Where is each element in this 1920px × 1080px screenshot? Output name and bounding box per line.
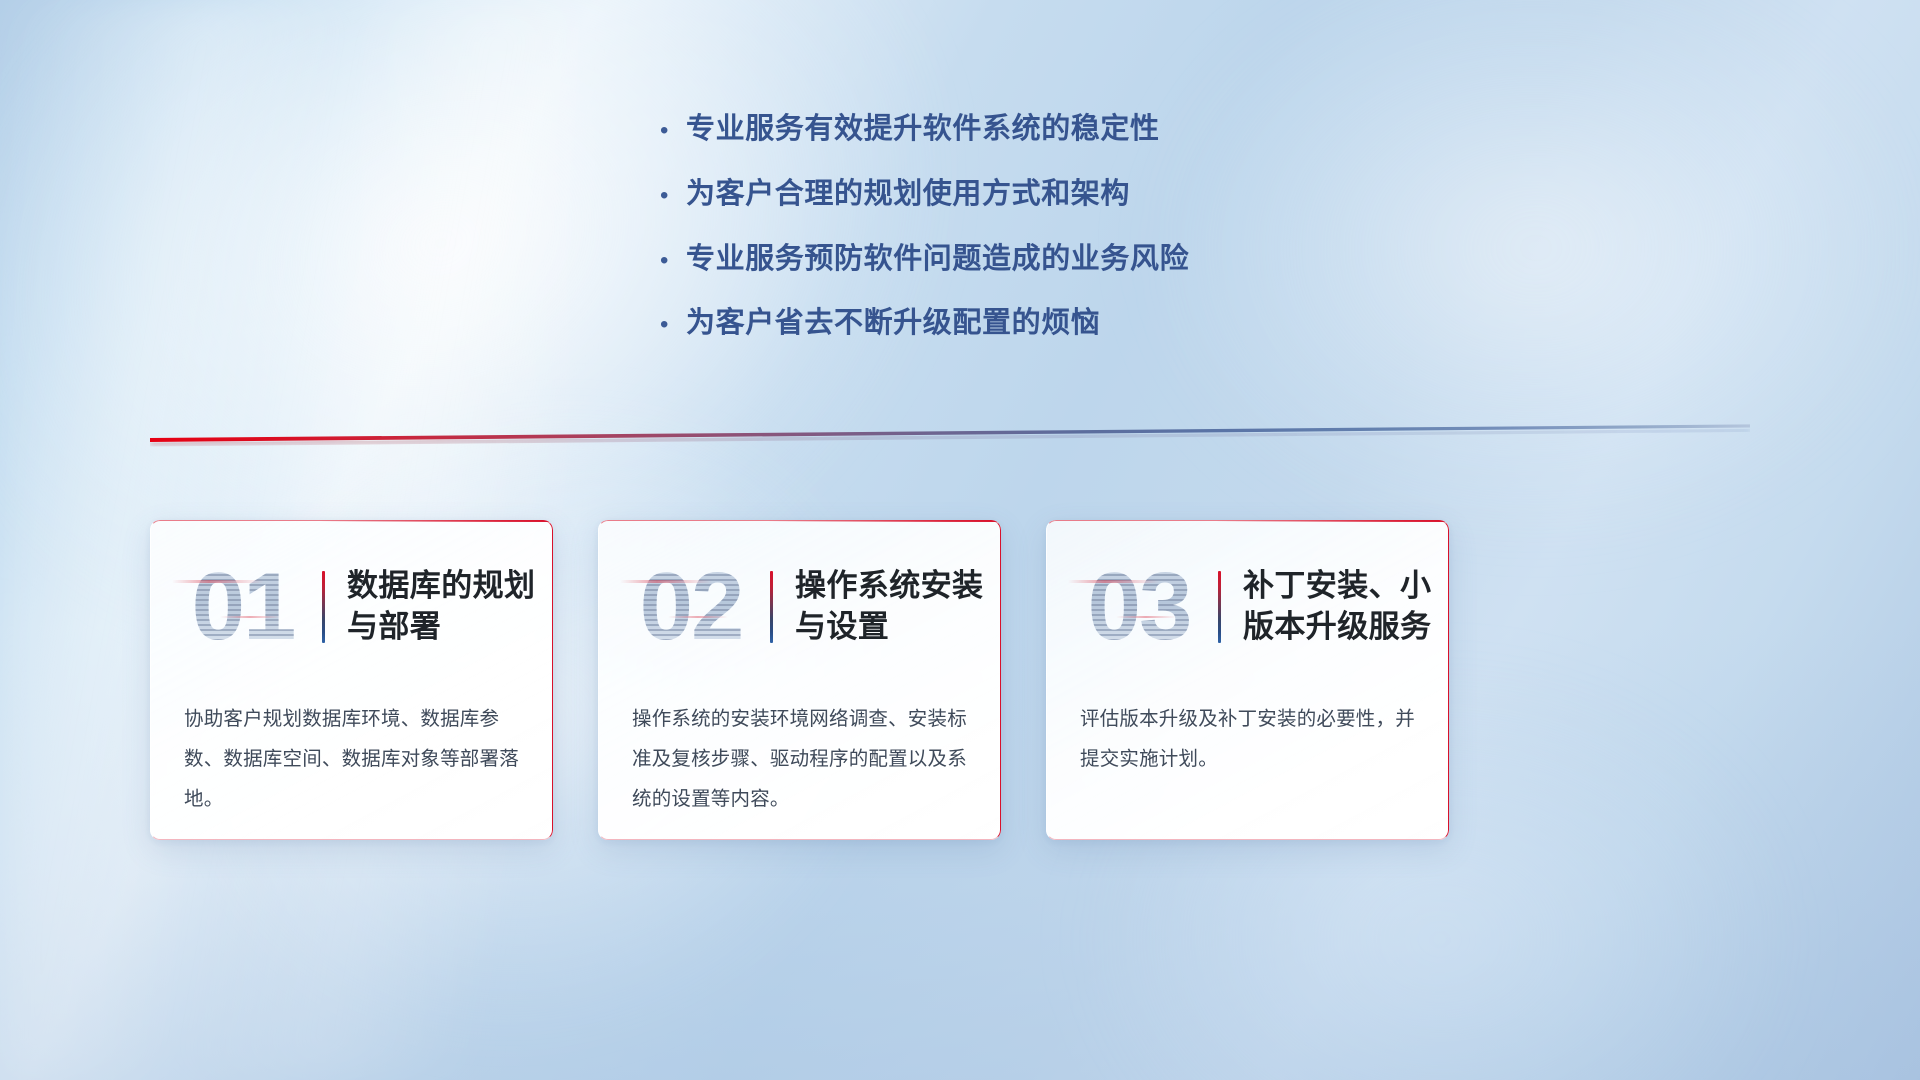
card-title-line-2: 版本升级服务	[1243, 607, 1433, 648]
card-title: 操作系统安装 与设置	[795, 566, 1001, 648]
bullet-item: 专业服务预防软件问题造成的业务风险	[660, 242, 1480, 277]
bullet-text: 专业服务有效提升软件系统的稳定性	[686, 112, 1160, 147]
card-header: 02 操作系统安装 与设置	[598, 520, 1001, 672]
bullet-text: 为客户合理的规划使用方式和架构	[686, 177, 1130, 212]
bullet-item: 为客户省去不断升级配置的烦恼	[660, 306, 1480, 341]
card-title-accent-bar	[322, 571, 325, 643]
card-description: 操作系统的安装环境网络调查、安装标准及复核步骤、驱动程序的配置以及系统的设置等内…	[598, 672, 1001, 820]
card-number-watermark: 02	[616, 559, 766, 655]
bullet-dot-icon	[660, 313, 686, 337]
bullet-dot-icon	[660, 119, 686, 143]
card-title-line-1: 操作系统安装	[795, 566, 985, 607]
card-title-accent-bar	[1218, 571, 1221, 643]
card-title-accent-bar	[770, 571, 773, 643]
card-title-line-2: 与部署	[347, 607, 537, 648]
service-card[interactable]: 02 操作系统安装 与设置 操作系统的安装环境网络调查、安装标准及复核步骤、驱动…	[598, 520, 1001, 840]
card-description: 协助客户规划数据库环境、数据库参数、数据库空间、数据库对象等部署落地。	[150, 672, 553, 820]
card-title: 补丁安装、小 版本升级服务	[1243, 566, 1449, 648]
card-number-watermark: 03	[1064, 559, 1214, 655]
service-card[interactable]: 01 数据库的规划 与部署 协助客户规划数据库环境、数据库参数、数据库空间、数据…	[150, 520, 553, 840]
card-header: 03 补丁安装、小 版本升级服务	[1046, 520, 1449, 672]
section-divider	[150, 420, 1750, 442]
card-title-line-2: 与设置	[795, 607, 985, 648]
card-title-line-1: 补丁安装、小	[1243, 566, 1433, 607]
card-number-watermark: 01	[168, 559, 318, 655]
card-title-line-1: 数据库的规划	[347, 566, 537, 607]
bullet-item: 为客户合理的规划使用方式和架构	[660, 177, 1480, 212]
bullet-dot-icon	[660, 184, 686, 208]
bullet-item: 专业服务有效提升软件系统的稳定性	[660, 112, 1480, 147]
benefits-bullet-list: 专业服务有效提升软件系统的稳定性 为客户合理的规划使用方式和架构 专业服务预防软…	[660, 112, 1480, 371]
bullet-dot-icon	[660, 249, 686, 273]
bullet-text: 专业服务预防软件问题造成的业务风险	[686, 242, 1189, 277]
service-card-list: 01 数据库的规划 与部署 协助客户规划数据库环境、数据库参数、数据库空间、数据…	[150, 520, 1450, 840]
card-description: 评估版本升级及补丁安装的必要性，并提交实施计划。	[1046, 672, 1449, 780]
service-card[interactable]: 03 补丁安装、小 版本升级服务 评估版本升级及补丁安装的必要性，并提交实施计划…	[1046, 520, 1449, 840]
card-header: 01 数据库的规划 与部署	[150, 520, 553, 672]
bullet-text: 为客户省去不断升级配置的烦恼	[686, 306, 1100, 341]
card-title: 数据库的规划 与部署	[347, 566, 553, 648]
